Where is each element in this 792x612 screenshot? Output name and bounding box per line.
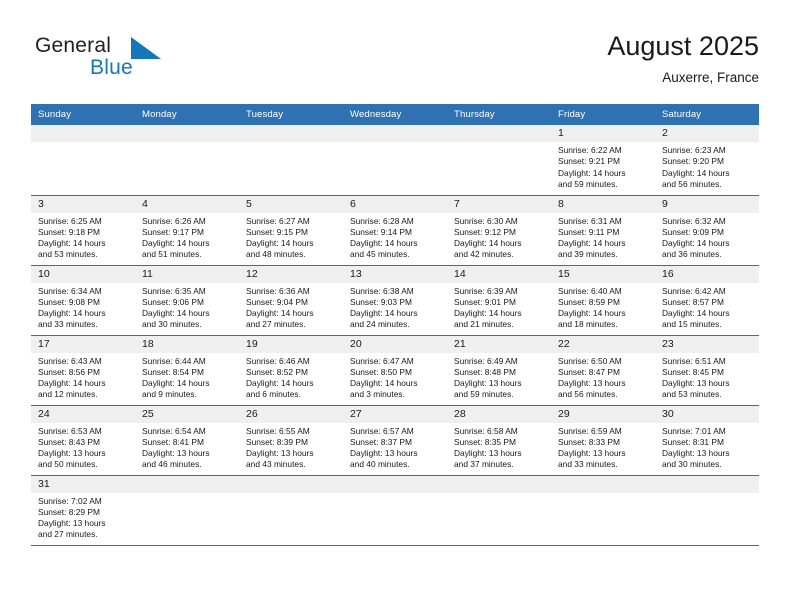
- day-number: 31: [31, 476, 135, 493]
- day-cell-content: 1Sunrise: 6:22 AMSunset: 9:21 PMDaylight…: [551, 125, 655, 195]
- daylight-text: and 36 minutes.: [662, 249, 754, 260]
- day-sun-details: Sunrise: 6:59 AMSunset: 8:33 PMDaylight:…: [551, 423, 655, 471]
- day-sun-details: Sunrise: 6:50 AMSunset: 8:47 PMDaylight:…: [551, 353, 655, 401]
- day-number: 25: [135, 406, 239, 423]
- day-cell-content: 14Sunrise: 6:39 AMSunset: 9:01 PMDayligh…: [447, 266, 551, 335]
- sunset-text: Sunset: 9:11 PM: [558, 227, 650, 238]
- daylight-text: and 33 minutes.: [558, 459, 650, 470]
- day-number: 4: [135, 196, 239, 213]
- daylight-text: Daylight: 14 hours: [246, 238, 338, 249]
- day-number: 12: [239, 266, 343, 283]
- calendar-empty-cell: [239, 125, 343, 195]
- daylight-text: Daylight: 14 hours: [38, 238, 130, 249]
- daylight-text: Daylight: 14 hours: [558, 308, 650, 319]
- calendar-week-row: 10Sunrise: 6:34 AMSunset: 9:08 PMDayligh…: [31, 265, 759, 335]
- calendar-empty-cell: [447, 475, 551, 545]
- calendar-day-cell[interactable]: 11Sunrise: 6:35 AMSunset: 9:06 PMDayligh…: [135, 265, 239, 335]
- day-cell-content: 5Sunrise: 6:27 AMSunset: 9:15 PMDaylight…: [239, 196, 343, 265]
- day-number: 3: [31, 196, 135, 213]
- calendar-day-cell[interactable]: 3Sunrise: 6:25 AMSunset: 9:18 PMDaylight…: [31, 195, 135, 265]
- day-sun-details: Sunrise: 6:51 AMSunset: 8:45 PMDaylight:…: [655, 353, 759, 401]
- day-cell-content: 31Sunrise: 7:02 AMSunset: 8:29 PMDayligh…: [31, 476, 135, 545]
- day-sun-details: Sunrise: 6:53 AMSunset: 8:43 PMDaylight:…: [31, 423, 135, 471]
- day-cell-content: 13Sunrise: 6:38 AMSunset: 9:03 PMDayligh…: [343, 266, 447, 335]
- sunrise-text: Sunrise: 6:43 AM: [38, 356, 130, 367]
- day-cell-content: 23Sunrise: 6:51 AMSunset: 8:45 PMDayligh…: [655, 336, 759, 405]
- calendar-day-cell[interactable]: 21Sunrise: 6:49 AMSunset: 8:48 PMDayligh…: [447, 335, 551, 405]
- calendar-day-cell[interactable]: 20Sunrise: 6:47 AMSunset: 8:50 PMDayligh…: [343, 335, 447, 405]
- day-number: [447, 125, 551, 142]
- day-number: 13: [343, 266, 447, 283]
- sunrise-text: Sunrise: 6:35 AM: [142, 286, 234, 297]
- daylight-text: and 15 minutes.: [662, 319, 754, 330]
- weekday-header-friday: Friday: [551, 104, 655, 125]
- day-number: [551, 476, 655, 493]
- day-sun-details: Sunrise: 6:30 AMSunset: 9:12 PMDaylight:…: [447, 213, 551, 261]
- day-cell-content: 3Sunrise: 6:25 AMSunset: 9:18 PMDaylight…: [31, 196, 135, 265]
- day-number: 5: [239, 196, 343, 213]
- daylight-text: and 30 minutes.: [662, 459, 754, 470]
- sunset-text: Sunset: 8:54 PM: [142, 367, 234, 378]
- sunset-text: Sunset: 9:01 PM: [454, 297, 546, 308]
- page-subtitle: Auxerre, France: [607, 68, 759, 88]
- calendar-day-cell[interactable]: 2Sunrise: 6:23 AMSunset: 9:20 PMDaylight…: [655, 125, 759, 195]
- sunset-text: Sunset: 8:41 PM: [142, 437, 234, 448]
- day-number: 9: [655, 196, 759, 213]
- day-sun-details: Sunrise: 6:22 AMSunset: 9:21 PMDaylight:…: [551, 142, 655, 190]
- calendar-day-cell[interactable]: 23Sunrise: 6:51 AMSunset: 8:45 PMDayligh…: [655, 335, 759, 405]
- calendar-day-cell[interactable]: 9Sunrise: 6:32 AMSunset: 9:09 PMDaylight…: [655, 195, 759, 265]
- day-cell-content: [447, 476, 551, 545]
- calendar-page: General Blue August 2025 Auxerre, France…: [0, 0, 792, 612]
- day-cell-content: 8Sunrise: 6:31 AMSunset: 9:11 PMDaylight…: [551, 196, 655, 265]
- sunset-text: Sunset: 8:47 PM: [558, 367, 650, 378]
- sunset-text: Sunset: 8:35 PM: [454, 437, 546, 448]
- daylight-text: and 56 minutes.: [558, 389, 650, 400]
- daylight-text: Daylight: 14 hours: [142, 308, 234, 319]
- weekday-header-sunday: Sunday: [31, 104, 135, 125]
- sunset-text: Sunset: 8:52 PM: [246, 367, 338, 378]
- weekday-header-thursday: Thursday: [447, 104, 551, 125]
- day-number: 20: [343, 336, 447, 353]
- weekday-header-monday: Monday: [135, 104, 239, 125]
- day-number: 14: [447, 266, 551, 283]
- day-number: 15: [551, 266, 655, 283]
- sunset-text: Sunset: 8:56 PM: [38, 367, 130, 378]
- day-number: 19: [239, 336, 343, 353]
- day-number: 24: [31, 406, 135, 423]
- day-cell-content: 30Sunrise: 7:01 AMSunset: 8:31 PMDayligh…: [655, 406, 759, 475]
- day-sun-details: Sunrise: 6:39 AMSunset: 9:01 PMDaylight:…: [447, 283, 551, 331]
- daylight-text: Daylight: 14 hours: [662, 238, 754, 249]
- daylight-text: and 39 minutes.: [558, 249, 650, 260]
- calendar-day-cell[interactable]: 1Sunrise: 6:22 AMSunset: 9:21 PMDaylight…: [551, 125, 655, 195]
- daylight-text: and 51 minutes.: [142, 249, 234, 260]
- daylight-text: and 27 minutes.: [246, 319, 338, 330]
- day-sun-details: Sunrise: 6:38 AMSunset: 9:03 PMDaylight:…: [343, 283, 447, 331]
- daylight-text: and 45 minutes.: [350, 249, 442, 260]
- daylight-text: and 53 minutes.: [662, 389, 754, 400]
- calendar-day-cell[interactable]: 13Sunrise: 6:38 AMSunset: 9:03 PMDayligh…: [343, 265, 447, 335]
- day-sun-details: Sunrise: 6:36 AMSunset: 9:04 PMDaylight:…: [239, 283, 343, 331]
- sunset-text: Sunset: 9:18 PM: [38, 227, 130, 238]
- day-cell-content: [655, 476, 759, 545]
- calendar-empty-cell: [343, 125, 447, 195]
- sunrise-text: Sunrise: 7:02 AM: [38, 496, 130, 507]
- daylight-text: Daylight: 13 hours: [38, 448, 130, 459]
- daylight-text: Daylight: 13 hours: [454, 378, 546, 389]
- day-number: 11: [135, 266, 239, 283]
- daylight-text: Daylight: 14 hours: [350, 238, 442, 249]
- day-number: [343, 125, 447, 142]
- daylight-text: Daylight: 13 hours: [350, 448, 442, 459]
- sunrise-text: Sunrise: 6:40 AM: [558, 286, 650, 297]
- daylight-text: Daylight: 14 hours: [454, 238, 546, 249]
- sunrise-text: Sunrise: 6:23 AM: [662, 145, 754, 156]
- sunrise-text: Sunrise: 6:30 AM: [454, 216, 546, 227]
- sunset-text: Sunset: 8:29 PM: [38, 507, 130, 518]
- sunset-text: Sunset: 9:09 PM: [662, 227, 754, 238]
- day-sun-details: Sunrise: 6:35 AMSunset: 9:06 PMDaylight:…: [135, 283, 239, 331]
- daylight-text: and 46 minutes.: [142, 459, 234, 470]
- day-sun-details: Sunrise: 6:27 AMSunset: 9:15 PMDaylight:…: [239, 213, 343, 261]
- daylight-text: Daylight: 13 hours: [246, 448, 338, 459]
- day-cell-content: [551, 476, 655, 545]
- calendar-day-cell[interactable]: 31Sunrise: 7:02 AMSunset: 8:29 PMDayligh…: [31, 475, 135, 545]
- sunrise-text: Sunrise: 6:47 AM: [350, 356, 442, 367]
- day-sun-details: Sunrise: 6:58 AMSunset: 8:35 PMDaylight:…: [447, 423, 551, 471]
- sunset-text: Sunset: 8:33 PM: [558, 437, 650, 448]
- day-number: [135, 125, 239, 142]
- daylight-text: and 43 minutes.: [246, 459, 338, 470]
- day-number: 30: [655, 406, 759, 423]
- calendar-day-cell[interactable]: 28Sunrise: 6:58 AMSunset: 8:35 PMDayligh…: [447, 405, 551, 475]
- daylight-text: and 50 minutes.: [38, 459, 130, 470]
- calendar-week-row: 1Sunrise: 6:22 AMSunset: 9:21 PMDaylight…: [31, 125, 759, 195]
- sunrise-text: Sunrise: 6:49 AM: [454, 356, 546, 367]
- sunrise-text: Sunrise: 6:54 AM: [142, 426, 234, 437]
- day-number: 10: [31, 266, 135, 283]
- sunset-text: Sunset: 9:04 PM: [246, 297, 338, 308]
- calendar-empty-cell: [655, 475, 759, 545]
- calendar-day-cell[interactable]: 7Sunrise: 6:30 AMSunset: 9:12 PMDaylight…: [447, 195, 551, 265]
- daylight-text: and 53 minutes.: [38, 249, 130, 260]
- daylight-text: and 59 minutes.: [558, 179, 650, 190]
- calendar-day-cell[interactable]: 19Sunrise: 6:46 AMSunset: 8:52 PMDayligh…: [239, 335, 343, 405]
- day-number: 27: [343, 406, 447, 423]
- sunrise-text: Sunrise: 6:59 AM: [558, 426, 650, 437]
- day-sun-details: Sunrise: 6:44 AMSunset: 8:54 PMDaylight:…: [135, 353, 239, 401]
- day-sun-details: Sunrise: 6:31 AMSunset: 9:11 PMDaylight:…: [551, 213, 655, 261]
- day-sun-details: Sunrise: 6:46 AMSunset: 8:52 PMDaylight:…: [239, 353, 343, 401]
- day-cell-content: [135, 125, 239, 195]
- day-cell-content: [239, 125, 343, 195]
- daylight-text: Daylight: 14 hours: [662, 308, 754, 319]
- day-number: [239, 125, 343, 142]
- sunrise-text: Sunrise: 6:44 AM: [142, 356, 234, 367]
- daylight-text: Daylight: 13 hours: [142, 448, 234, 459]
- sunrise-text: Sunrise: 6:57 AM: [350, 426, 442, 437]
- sunrise-text: Sunrise: 6:32 AM: [662, 216, 754, 227]
- day-sun-details: Sunrise: 6:43 AMSunset: 8:56 PMDaylight:…: [31, 353, 135, 401]
- daylight-text: Daylight: 14 hours: [662, 168, 754, 179]
- day-number: 29: [551, 406, 655, 423]
- sunrise-text: Sunrise: 6:55 AM: [246, 426, 338, 437]
- sunset-text: Sunset: 8:59 PM: [558, 297, 650, 308]
- calendar-day-cell[interactable]: 8Sunrise: 6:31 AMSunset: 9:11 PMDaylight…: [551, 195, 655, 265]
- daylight-text: and 3 minutes.: [350, 389, 442, 400]
- day-number: 1: [551, 125, 655, 142]
- sunrise-text: Sunrise: 6:58 AM: [454, 426, 546, 437]
- daylight-text: and 24 minutes.: [350, 319, 442, 330]
- calendar-week-row: 3Sunrise: 6:25 AMSunset: 9:18 PMDaylight…: [31, 195, 759, 265]
- sunset-text: Sunset: 8:50 PM: [350, 367, 442, 378]
- sunrise-text: Sunrise: 6:36 AM: [246, 286, 338, 297]
- sunset-text: Sunset: 9:12 PM: [454, 227, 546, 238]
- calendar-day-cell[interactable]: 12Sunrise: 6:36 AMSunset: 9:04 PMDayligh…: [239, 265, 343, 335]
- day-sun-details: Sunrise: 6:34 AMSunset: 9:08 PMDaylight:…: [31, 283, 135, 331]
- sunrise-text: Sunrise: 7:01 AM: [662, 426, 754, 437]
- daylight-text: Daylight: 14 hours: [454, 308, 546, 319]
- day-number: 22: [551, 336, 655, 353]
- day-cell-content: [31, 125, 135, 195]
- sunrise-text: Sunrise: 6:38 AM: [350, 286, 442, 297]
- day-cell-content: 11Sunrise: 6:35 AMSunset: 9:06 PMDayligh…: [135, 266, 239, 335]
- calendar-empty-cell: [343, 475, 447, 545]
- day-sun-details: Sunrise: 6:57 AMSunset: 8:37 PMDaylight:…: [343, 423, 447, 471]
- calendar-week-row: 31Sunrise: 7:02 AMSunset: 8:29 PMDayligh…: [31, 475, 759, 545]
- day-cell-content: 19Sunrise: 6:46 AMSunset: 8:52 PMDayligh…: [239, 336, 343, 405]
- day-number: [135, 476, 239, 493]
- daylight-text: Daylight: 13 hours: [662, 378, 754, 389]
- calendar-day-cell[interactable]: 29Sunrise: 6:59 AMSunset: 8:33 PMDayligh…: [551, 405, 655, 475]
- day-cell-content: [239, 476, 343, 545]
- sunset-text: Sunset: 9:14 PM: [350, 227, 442, 238]
- sunset-text: Sunset: 8:45 PM: [662, 367, 754, 378]
- daylight-text: Daylight: 13 hours: [38, 518, 130, 529]
- logo-text-blue: Blue: [90, 56, 133, 80]
- calendar-empty-cell: [447, 125, 551, 195]
- daylight-text: Daylight: 13 hours: [662, 448, 754, 459]
- sunset-text: Sunset: 8:57 PM: [662, 297, 754, 308]
- daylight-text: and 42 minutes.: [454, 249, 546, 260]
- general-blue-logo[interactable]: General Blue: [35, 34, 215, 90]
- weekday-header-wednesday: Wednesday: [343, 104, 447, 125]
- day-cell-content: 6Sunrise: 6:28 AMSunset: 9:14 PMDaylight…: [343, 196, 447, 265]
- day-sun-details: Sunrise: 6:26 AMSunset: 9:17 PMDaylight:…: [135, 213, 239, 261]
- daylight-text: and 48 minutes.: [246, 249, 338, 260]
- calendar-empty-cell: [135, 475, 239, 545]
- day-cell-content: 9Sunrise: 6:32 AMSunset: 9:09 PMDaylight…: [655, 196, 759, 265]
- calendar-day-cell[interactable]: 5Sunrise: 6:27 AMSunset: 9:15 PMDaylight…: [239, 195, 343, 265]
- daylight-text: Daylight: 14 hours: [350, 308, 442, 319]
- day-sun-details: Sunrise: 6:40 AMSunset: 8:59 PMDaylight:…: [551, 283, 655, 331]
- calendar-day-cell[interactable]: 24Sunrise: 6:53 AMSunset: 8:43 PMDayligh…: [31, 405, 135, 475]
- day-sun-details: Sunrise: 7:01 AMSunset: 8:31 PMDaylight:…: [655, 423, 759, 471]
- sunset-text: Sunset: 9:08 PM: [38, 297, 130, 308]
- daylight-text: and 30 minutes.: [142, 319, 234, 330]
- sunset-text: Sunset: 9:06 PM: [142, 297, 234, 308]
- calendar-day-cell[interactable]: 16Sunrise: 6:42 AMSunset: 8:57 PMDayligh…: [655, 265, 759, 335]
- weekday-header-saturday: Saturday: [655, 104, 759, 125]
- daylight-text: Daylight: 14 hours: [142, 238, 234, 249]
- page-title: August 2025: [607, 30, 759, 62]
- calendar-empty-cell: [135, 125, 239, 195]
- daylight-text: Daylight: 13 hours: [558, 448, 650, 459]
- day-sun-details: Sunrise: 6:55 AMSunset: 8:39 PMDaylight:…: [239, 423, 343, 471]
- day-cell-content: 18Sunrise: 6:44 AMSunset: 8:54 PMDayligh…: [135, 336, 239, 405]
- sunrise-text: Sunrise: 6:28 AM: [350, 216, 442, 227]
- triangle-logo-icon: [131, 37, 161, 59]
- sunrise-text: Sunrise: 6:51 AM: [662, 356, 754, 367]
- daylight-text: Daylight: 14 hours: [558, 168, 650, 179]
- day-number: [31, 125, 135, 142]
- daylight-text: and 9 minutes.: [142, 389, 234, 400]
- day-cell-content: 28Sunrise: 6:58 AMSunset: 8:35 PMDayligh…: [447, 406, 551, 475]
- day-cell-content: 16Sunrise: 6:42 AMSunset: 8:57 PMDayligh…: [655, 266, 759, 335]
- day-cell-content: 12Sunrise: 6:36 AMSunset: 9:04 PMDayligh…: [239, 266, 343, 335]
- calendar-day-cell[interactable]: 10Sunrise: 6:34 AMSunset: 9:08 PMDayligh…: [31, 265, 135, 335]
- day-number: 16: [655, 266, 759, 283]
- day-number: 21: [447, 336, 551, 353]
- sunrise-sunset-calendar-table: Sunday Monday Tuesday Wednesday Thursday…: [31, 104, 759, 546]
- sunrise-text: Sunrise: 6:50 AM: [558, 356, 650, 367]
- day-cell-content: 24Sunrise: 6:53 AMSunset: 8:43 PMDayligh…: [31, 406, 135, 475]
- day-number: 28: [447, 406, 551, 423]
- day-sun-details: Sunrise: 6:23 AMSunset: 9:20 PMDaylight:…: [655, 142, 759, 190]
- day-cell-content: 17Sunrise: 6:43 AMSunset: 8:56 PMDayligh…: [31, 336, 135, 405]
- daylight-text: Daylight: 14 hours: [246, 378, 338, 389]
- sunrise-text: Sunrise: 6:31 AM: [558, 216, 650, 227]
- day-number: 23: [655, 336, 759, 353]
- day-cell-content: [343, 125, 447, 195]
- calendar-day-cell[interactable]: 6Sunrise: 6:28 AMSunset: 9:14 PMDaylight…: [343, 195, 447, 265]
- daylight-text: Daylight: 14 hours: [38, 378, 130, 389]
- daylight-text: and 40 minutes.: [350, 459, 442, 470]
- title-block: August 2025 Auxerre, France: [607, 30, 759, 88]
- sunset-text: Sunset: 9:03 PM: [350, 297, 442, 308]
- day-sun-details: Sunrise: 7:02 AMSunset: 8:29 PMDaylight:…: [31, 493, 135, 541]
- calendar-header-row: Sunday Monday Tuesday Wednesday Thursday…: [31, 104, 759, 125]
- calendar-day-cell[interactable]: 30Sunrise: 7:01 AMSunset: 8:31 PMDayligh…: [655, 405, 759, 475]
- calendar-body: 1Sunrise: 6:22 AMSunset: 9:21 PMDaylight…: [31, 125, 759, 545]
- daylight-text: and 12 minutes.: [38, 389, 130, 400]
- daylight-text: Daylight: 14 hours: [350, 378, 442, 389]
- sunrise-text: Sunrise: 6:27 AM: [246, 216, 338, 227]
- calendar-empty-cell: [551, 475, 655, 545]
- day-cell-content: 25Sunrise: 6:54 AMSunset: 8:41 PMDayligh…: [135, 406, 239, 475]
- day-number: 7: [447, 196, 551, 213]
- day-cell-content: 20Sunrise: 6:47 AMSunset: 8:50 PMDayligh…: [343, 336, 447, 405]
- calendar-day-cell[interactable]: 27Sunrise: 6:57 AMSunset: 8:37 PMDayligh…: [343, 405, 447, 475]
- day-cell-content: 2Sunrise: 6:23 AMSunset: 9:20 PMDaylight…: [655, 125, 759, 195]
- day-number: 18: [135, 336, 239, 353]
- day-number: [343, 476, 447, 493]
- daylight-text: and 27 minutes.: [38, 529, 130, 540]
- sunrise-text: Sunrise: 6:26 AM: [142, 216, 234, 227]
- day-cell-content: [135, 476, 239, 545]
- day-cell-content: 29Sunrise: 6:59 AMSunset: 8:33 PMDayligh…: [551, 406, 655, 475]
- sunrise-text: Sunrise: 6:53 AM: [38, 426, 130, 437]
- daylight-text: Daylight: 14 hours: [558, 238, 650, 249]
- day-cell-content: 26Sunrise: 6:55 AMSunset: 8:39 PMDayligh…: [239, 406, 343, 475]
- calendar-day-cell[interactable]: 17Sunrise: 6:43 AMSunset: 8:56 PMDayligh…: [31, 335, 135, 405]
- sunset-text: Sunset: 8:31 PM: [662, 437, 754, 448]
- day-cell-content: 27Sunrise: 6:57 AMSunset: 8:37 PMDayligh…: [343, 406, 447, 475]
- day-sun-details: Sunrise: 6:47 AMSunset: 8:50 PMDaylight:…: [343, 353, 447, 401]
- calendar-day-cell[interactable]: 4Sunrise: 6:26 AMSunset: 9:17 PMDaylight…: [135, 195, 239, 265]
- day-cell-content: 21Sunrise: 6:49 AMSunset: 8:48 PMDayligh…: [447, 336, 551, 405]
- sunrise-text: Sunrise: 6:42 AM: [662, 286, 754, 297]
- day-cell-content: 10Sunrise: 6:34 AMSunset: 9:08 PMDayligh…: [31, 266, 135, 335]
- calendar-day-cell[interactable]: 15Sunrise: 6:40 AMSunset: 8:59 PMDayligh…: [551, 265, 655, 335]
- sunrise-text: Sunrise: 6:39 AM: [454, 286, 546, 297]
- day-number: 2: [655, 125, 759, 142]
- calendar-day-cell[interactable]: 14Sunrise: 6:39 AMSunset: 9:01 PMDayligh…: [447, 265, 551, 335]
- daylight-text: and 18 minutes.: [558, 319, 650, 330]
- daylight-text: and 6 minutes.: [246, 389, 338, 400]
- daylight-text: Daylight: 14 hours: [38, 308, 130, 319]
- day-cell-content: 15Sunrise: 6:40 AMSunset: 8:59 PMDayligh…: [551, 266, 655, 335]
- day-number: 17: [31, 336, 135, 353]
- weekday-header-tuesday: Tuesday: [239, 104, 343, 125]
- calendar-empty-cell: [31, 125, 135, 195]
- calendar-day-cell[interactable]: 22Sunrise: 6:50 AMSunset: 8:47 PMDayligh…: [551, 335, 655, 405]
- sunset-text: Sunset: 9:15 PM: [246, 227, 338, 238]
- day-number: 26: [239, 406, 343, 423]
- sunset-text: Sunset: 8:48 PM: [454, 367, 546, 378]
- daylight-text: and 56 minutes.: [662, 179, 754, 190]
- day-cell-content: 22Sunrise: 6:50 AMSunset: 8:47 PMDayligh…: [551, 336, 655, 405]
- day-cell-content: [447, 125, 551, 195]
- day-number: 6: [343, 196, 447, 213]
- sunset-text: Sunset: 9:20 PM: [662, 156, 754, 167]
- daylight-text: Daylight: 14 hours: [246, 308, 338, 319]
- sunset-text: Sunset: 9:21 PM: [558, 156, 650, 167]
- calendar-day-cell[interactable]: 25Sunrise: 6:54 AMSunset: 8:41 PMDayligh…: [135, 405, 239, 475]
- sunset-text: Sunset: 8:39 PM: [246, 437, 338, 448]
- day-sun-details: Sunrise: 6:49 AMSunset: 8:48 PMDaylight:…: [447, 353, 551, 401]
- day-sun-details: Sunrise: 6:42 AMSunset: 8:57 PMDaylight:…: [655, 283, 759, 331]
- day-cell-content: [343, 476, 447, 545]
- masthead: General Blue August 2025 Auxerre, France: [31, 30, 759, 98]
- day-sun-details: Sunrise: 6:28 AMSunset: 9:14 PMDaylight:…: [343, 213, 447, 261]
- daylight-text: Daylight: 13 hours: [454, 448, 546, 459]
- sunset-text: Sunset: 9:17 PM: [142, 227, 234, 238]
- sunrise-text: Sunrise: 6:34 AM: [38, 286, 130, 297]
- sunset-text: Sunset: 8:43 PM: [38, 437, 130, 448]
- day-sun-details: Sunrise: 6:32 AMSunset: 9:09 PMDaylight:…: [655, 213, 759, 261]
- daylight-text: Daylight: 13 hours: [558, 378, 650, 389]
- day-sun-details: Sunrise: 6:25 AMSunset: 9:18 PMDaylight:…: [31, 213, 135, 261]
- day-number: 8: [551, 196, 655, 213]
- day-cell-content: 7Sunrise: 6:30 AMSunset: 9:12 PMDaylight…: [447, 196, 551, 265]
- calendar-week-row: 24Sunrise: 6:53 AMSunset: 8:43 PMDayligh…: [31, 405, 759, 475]
- daylight-text: Daylight: 14 hours: [142, 378, 234, 389]
- calendar-day-cell[interactable]: 26Sunrise: 6:55 AMSunset: 8:39 PMDayligh…: [239, 405, 343, 475]
- sunset-text: Sunset: 8:37 PM: [350, 437, 442, 448]
- day-number: [447, 476, 551, 493]
- sunrise-text: Sunrise: 6:46 AM: [246, 356, 338, 367]
- day-cell-content: 4Sunrise: 6:26 AMSunset: 9:17 PMDaylight…: [135, 196, 239, 265]
- calendar-empty-cell: [239, 475, 343, 545]
- daylight-text: and 59 minutes.: [454, 389, 546, 400]
- calendar-day-cell[interactable]: 18Sunrise: 6:44 AMSunset: 8:54 PMDayligh…: [135, 335, 239, 405]
- day-number: [239, 476, 343, 493]
- calendar-week-row: 17Sunrise: 6:43 AMSunset: 8:56 PMDayligh…: [31, 335, 759, 405]
- daylight-text: and 37 minutes.: [454, 459, 546, 470]
- sunrise-text: Sunrise: 6:22 AM: [558, 145, 650, 156]
